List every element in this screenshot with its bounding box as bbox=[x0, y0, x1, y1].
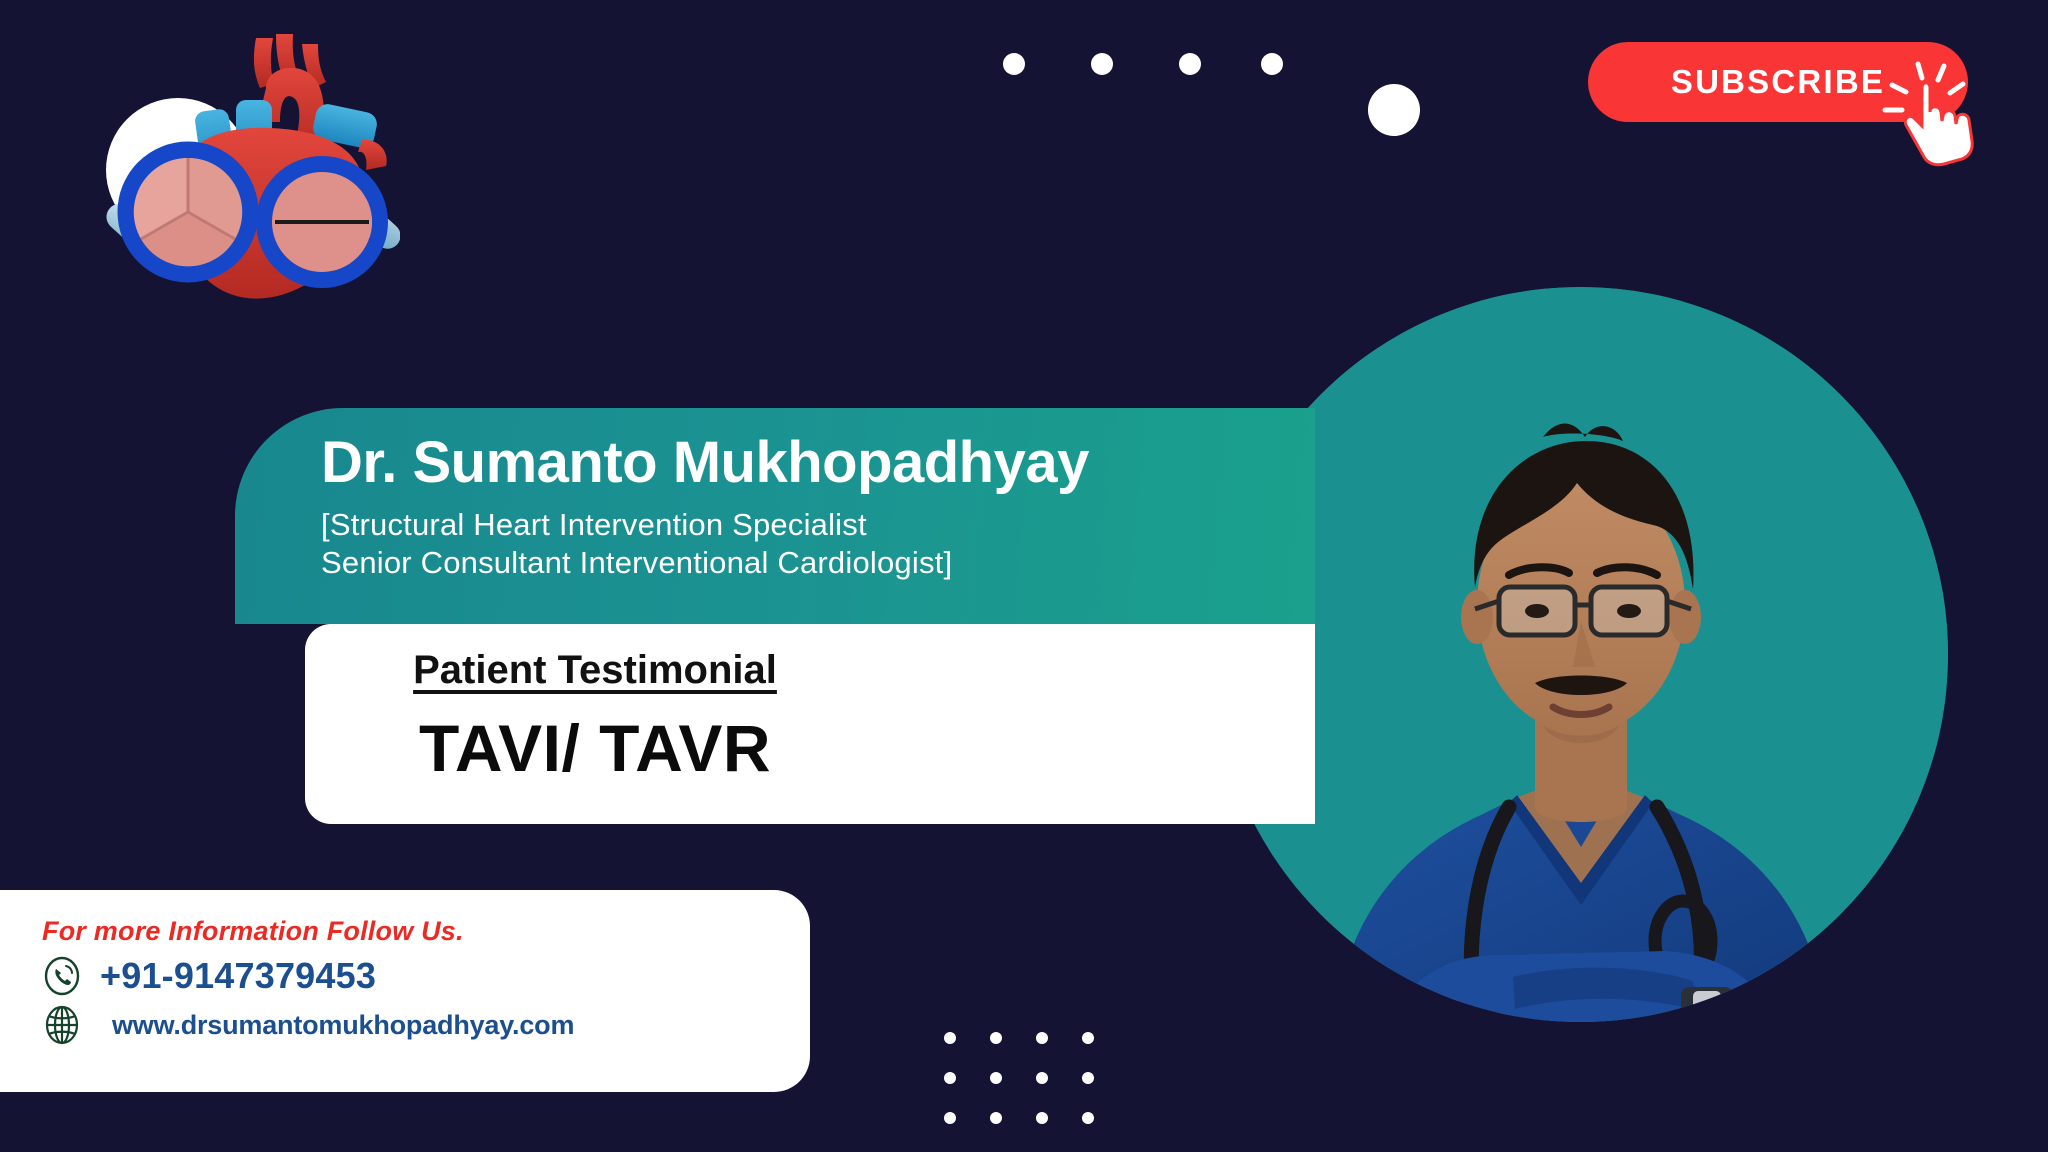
doctor-name-band: Dr. Sumanto Mukhopadhyay [Structural Hea… bbox=[235, 408, 1315, 624]
grid-dot bbox=[1082, 1032, 1094, 1044]
subscribe-area: SUBSCRIBE bbox=[1588, 42, 1968, 140]
grid-dot bbox=[944, 1032, 956, 1044]
phone-icon bbox=[42, 956, 82, 996]
grid-dot bbox=[990, 1112, 1002, 1124]
grid-dot bbox=[944, 1072, 956, 1084]
doctor-credentials-line2: Senior Consultant Interventional Cardiol… bbox=[321, 544, 1315, 582]
subscribe-button[interactable]: SUBSCRIBE bbox=[1588, 42, 1968, 122]
grid-dot bbox=[990, 1032, 1002, 1044]
grid-dot bbox=[944, 1112, 956, 1124]
doctor-portrait bbox=[1213, 287, 1948, 1022]
grid-dot bbox=[990, 1072, 1002, 1084]
top-dot-large bbox=[1368, 84, 1420, 136]
poster-canvas: SUBSCRIBE bbox=[0, 0, 2048, 1152]
testimonial-card: Patient Testimonial TAVI/ TAVR bbox=[305, 624, 1315, 824]
grid-dot bbox=[1036, 1032, 1048, 1044]
phone-number[interactable]: +91-9147379453 bbox=[100, 955, 376, 997]
doctor-name: Dr. Sumanto Mukhopadhyay bbox=[321, 434, 1315, 492]
globe-icon bbox=[42, 1005, 82, 1045]
top-dot bbox=[1003, 53, 1025, 75]
contact-card: For more Information Follow Us. +91-9147… bbox=[0, 890, 810, 1092]
grid-dot bbox=[1082, 1072, 1094, 1084]
phone-row[interactable]: +91-9147379453 bbox=[42, 955, 810, 997]
procedure-title: TAVI/ TAVR bbox=[305, 710, 1315, 786]
website-url[interactable]: www.drsumantomukhopadhyay.com bbox=[112, 1010, 574, 1041]
grid-dot bbox=[1082, 1112, 1094, 1124]
heart-with-magnifiers-icon bbox=[70, 30, 400, 310]
bottom-dot-grid bbox=[944, 1032, 1104, 1132]
top-dot bbox=[1091, 53, 1113, 75]
doctor-photo-circle bbox=[1213, 287, 1948, 1022]
testimonial-label: Patient Testimonial bbox=[305, 648, 1315, 693]
follow-us-text: For more Information Follow Us. bbox=[42, 916, 810, 947]
grid-dot bbox=[1036, 1072, 1048, 1084]
grid-dot bbox=[1036, 1112, 1048, 1124]
doctor-credentials-line1: [Structural Heart Intervention Specialis… bbox=[321, 506, 1315, 544]
top-dot bbox=[1261, 53, 1283, 75]
website-row[interactable]: www.drsumantomukhopadhyay.com bbox=[42, 1005, 810, 1045]
top-dot bbox=[1179, 53, 1201, 75]
